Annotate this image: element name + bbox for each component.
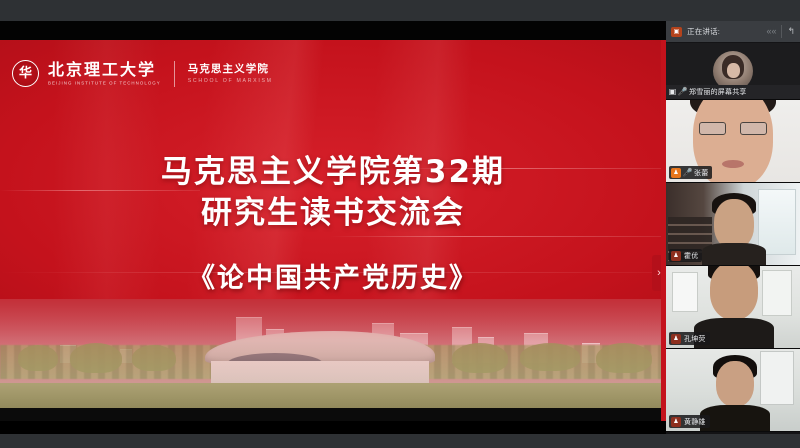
participant-name-badge: ♟ 孔坤荧	[669, 332, 710, 345]
participant-tile[interactable]: ♟ 🎤 张蕾	[666, 100, 800, 183]
participant-name: 孔坤荧	[684, 334, 706, 344]
participant-name-badge: ♟ 霍优	[669, 249, 702, 262]
screen-share-badge: ▣ 🎤 郑雪丽的屏幕共享	[666, 85, 800, 99]
participant-tile[interactable]: ♟ 霍优	[666, 183, 800, 266]
host-icon: ♟	[671, 168, 681, 178]
campus-photo-band	[0, 299, 666, 421]
slide-subtitle: 《论中国共产党历史》	[0, 256, 666, 295]
participant-name: 黄静雄	[684, 417, 706, 427]
presentation-slide: 华 北京理工大学 BEIJING INSTITUTE OF TECHNOLOGY…	[0, 40, 666, 421]
toolbar-divider	[781, 25, 782, 38]
school-name-cn: 马克思主义学院	[188, 63, 273, 75]
participant-video: ♟ 孔坤荧	[666, 266, 800, 348]
video-camera-icon: ▣	[671, 27, 682, 37]
slide-title-line-1: 马克思主义学院第32期	[0, 152, 666, 193]
back-arrow-icon[interactable]: ↰	[787, 27, 795, 36]
campus-red-tint	[0, 299, 666, 421]
school-name-en: SCHOOL OF MARXISM	[188, 78, 273, 84]
chevron-left-icon[interactable]: ««	[766, 27, 776, 36]
window-bottom-chrome	[0, 434, 800, 448]
host-icon: ♟	[671, 251, 681, 261]
participant-tile[interactable]: ♟ 黄静雄	[666, 349, 800, 432]
host-icon: ♟	[671, 417, 681, 427]
participant-name: 张蕾	[694, 168, 708, 178]
university-name-en: BEIJING INSTITUTE OF TECHNOLOGY	[48, 80, 161, 86]
university-name-cn: 北京理工大学	[48, 62, 161, 79]
screen-share-icon: ▣	[669, 87, 676, 97]
slide-logo-lockup: 华 北京理工大学 BEIJING INSTITUTE OF TECHNOLOGY…	[12, 60, 273, 87]
window-top-chrome	[0, 0, 800, 21]
participant-video: ♟ 🎤 张蕾	[666, 100, 800, 182]
university-name-block: 北京理工大学 BEIJING INSTITUTE OF TECHNOLOGY	[48, 62, 161, 85]
screen-share-label: 郑雪丽的屏幕共享	[689, 87, 747, 97]
shared-screen-stage[interactable]: 华 北京理工大学 BEIJING INSTITUTE OF TECHNOLOGY…	[0, 40, 666, 421]
microphone-icon: 🎤	[684, 168, 691, 178]
logo-divider	[174, 61, 175, 87]
university-seal-icon: 华	[12, 60, 39, 87]
campus-footer-bar	[0, 408, 666, 421]
participant-video: ♟ 霍优	[666, 183, 800, 265]
rail-toolbar[interactable]: ▣ 正在讲话: «« ↰	[666, 21, 800, 43]
participant-rail: ▣ 正在讲话: «« ↰ ▣ 🎤 郑雪丽的屏幕共享	[666, 21, 800, 434]
microphone-icon: 🎤	[679, 87, 686, 97]
host-icon: ♟	[671, 334, 681, 344]
participant-tile[interactable]: ♟ 孔坤荧	[666, 266, 800, 349]
speaking-status-label: 正在讲话:	[687, 26, 761, 37]
participant-name: 霍优	[684, 251, 698, 261]
participant-name-badge: ♟ 🎤 张蕾	[669, 166, 712, 179]
slide-title-line-2: 研究生读书交流会	[0, 193, 666, 234]
participant-name-badge: ♟ 黄静雄	[669, 415, 710, 428]
meeting-window: 华 北京理工大学 BEIJING INSTITUTE OF TECHNOLOGY…	[0, 0, 800, 448]
participant-video: ♟ 黄静雄	[666, 349, 800, 431]
school-name-block: 马克思主义学院 SCHOOL OF MARXISM	[188, 63, 273, 84]
active-speaker-tile[interactable]: ▣ 🎤 郑雪丽的屏幕共享	[666, 43, 800, 100]
